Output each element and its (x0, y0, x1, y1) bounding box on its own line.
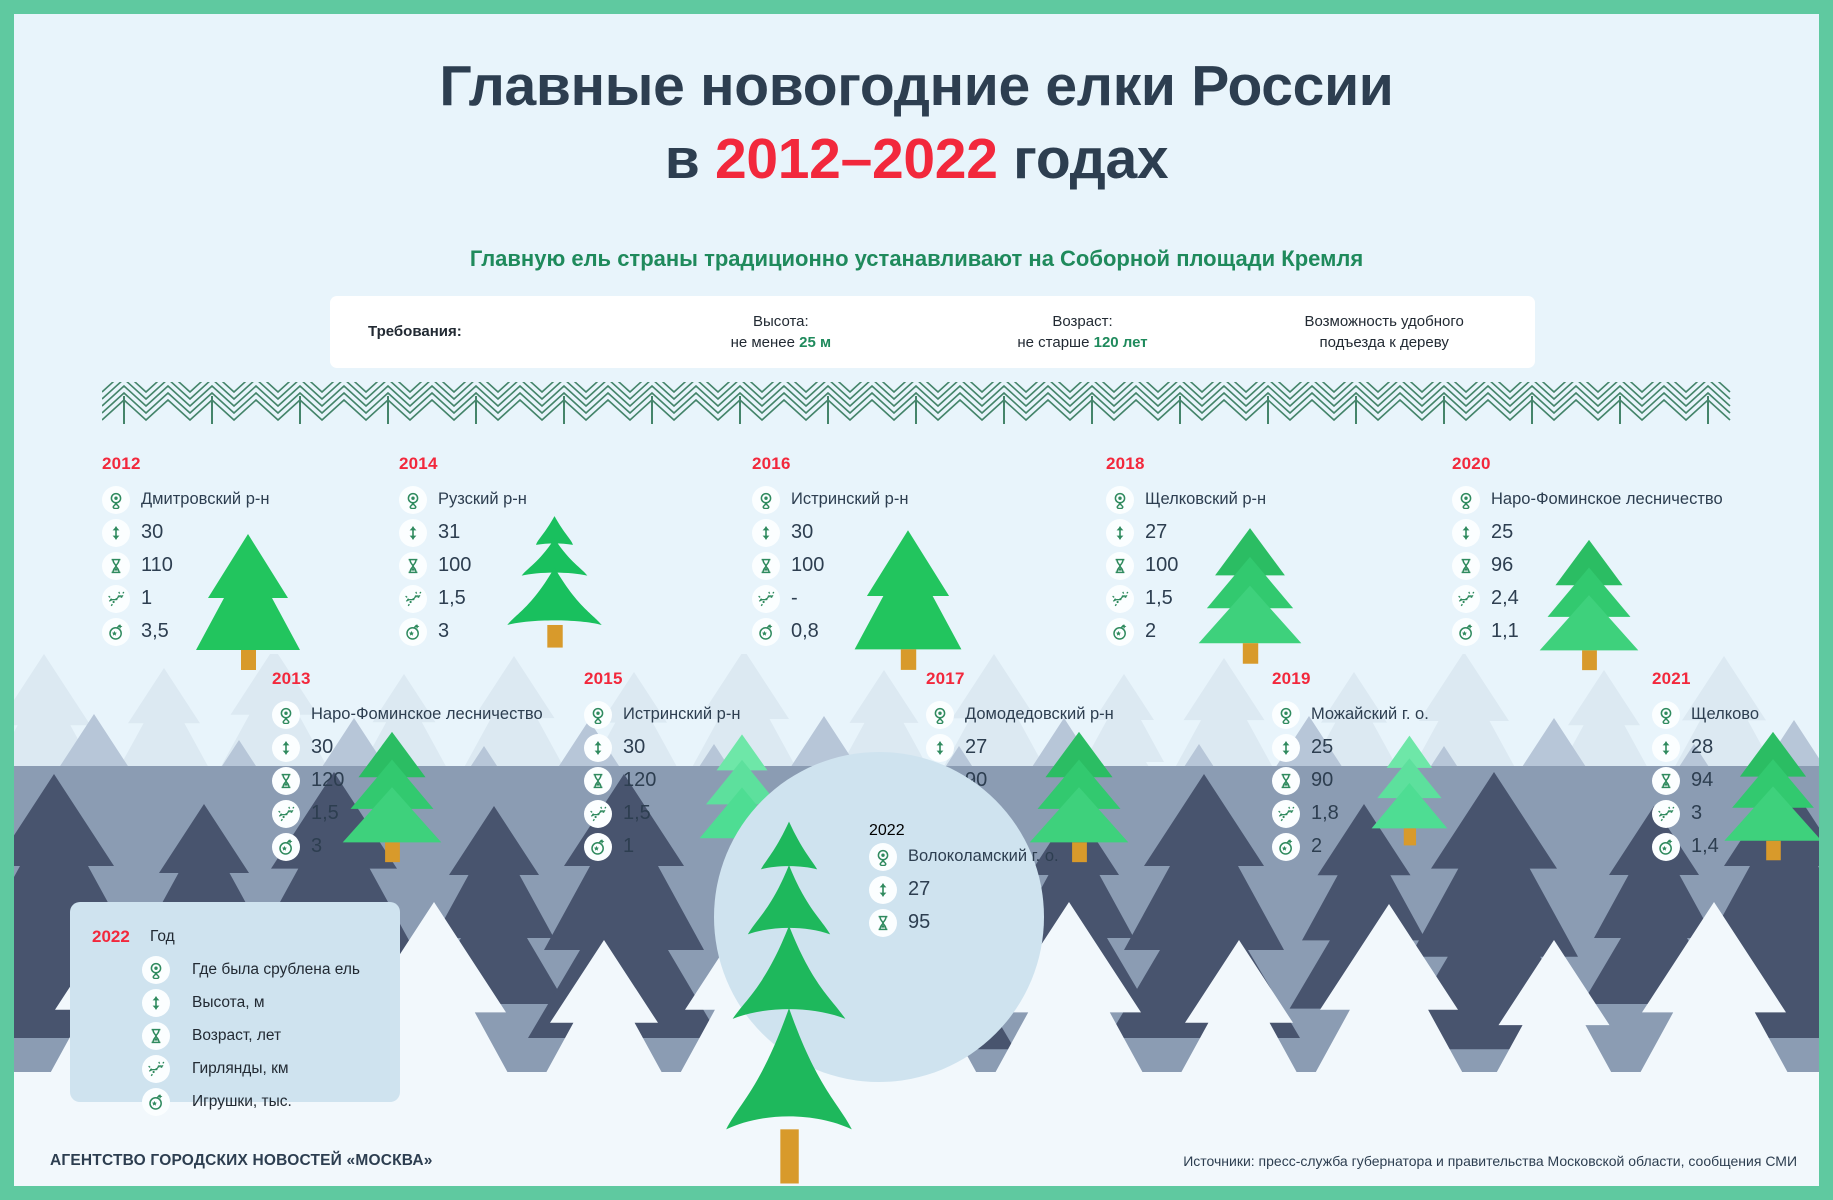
entry-toys: 2 (1311, 835, 1322, 858)
entry-year: 2019 (1272, 669, 1429, 689)
height-arrow-icon (102, 519, 130, 547)
title-year-range: 2012–2022 (715, 127, 998, 191)
entry-toys: 1 (623, 835, 634, 858)
entry-age: 90 (1311, 769, 1333, 792)
ornament-ball-icon (1272, 833, 1300, 861)
entry-height: 30 (141, 521, 163, 544)
title-suffix: годах (998, 127, 1169, 191)
title-prefix: в (665, 127, 715, 191)
hourglass-icon (1452, 552, 1480, 580)
height-arrow-icon (1106, 519, 1134, 547)
entry-place-row: Волоколамский г. о. (869, 840, 1059, 873)
entry-place: Рузский р-н (438, 490, 527, 509)
garland-icon (142, 1055, 170, 1083)
entry-height: 30 (623, 736, 645, 759)
legend-row-place: Где была срублена ель (92, 953, 380, 986)
hourglass-icon (142, 1022, 170, 1050)
entry-toys: 3 (438, 620, 449, 643)
ornament-ball-icon (102, 618, 130, 646)
entry-height: 25 (1491, 521, 1513, 544)
entry-garlands: 1,5 (438, 587, 466, 610)
entry-garlands: 1,5 (623, 802, 651, 825)
entry-garlands: 2,4 (1491, 587, 1519, 610)
hourglass-icon (584, 767, 612, 795)
zigzag-tree-divider (102, 382, 1732, 426)
legend-label-age: Возраст, лет (192, 1027, 281, 1045)
garland-icon (102, 585, 130, 613)
hourglass-icon (869, 909, 897, 937)
tree-illustration-2012 (188, 526, 308, 674)
infographic-frame: Главные новогодние елки России в 2012–20… (0, 0, 1833, 1200)
entry-age: 96 (1491, 554, 1513, 577)
legend-row-garlands: Гирлянды, км (92, 1052, 380, 1085)
tree-illustration-2013 (332, 726, 452, 872)
infographic-canvas: Главные новогодние елки России в 2012–20… (14, 14, 1819, 1186)
hourglass-icon (1272, 767, 1300, 795)
requirement-age-text: не старше (1017, 334, 1093, 351)
entry-age: 100 (1145, 554, 1178, 577)
tree-illustration-2020 (1528, 534, 1650, 680)
hourglass-icon (399, 552, 427, 580)
garland-icon (1272, 800, 1300, 828)
entry-place: Можайский г. о. (1311, 705, 1429, 724)
map-pin-icon (752, 486, 780, 514)
requirements-label: Требования: (330, 321, 630, 342)
entry-place: Щелковский р-н (1145, 490, 1266, 509)
legend-panel: 2022 Год Где была срублена ель Высота, м… (70, 902, 400, 1102)
requirement-height-name: Высота: (630, 311, 932, 332)
title-line-1: Главные новогодние елки России (14, 50, 1819, 123)
ornament-ball-icon (752, 618, 780, 646)
legend-label-place: Где была срублена ель (192, 961, 360, 979)
hourglass-icon (1652, 767, 1680, 795)
requirement-age-value: 120 лет (1094, 334, 1148, 351)
entry-year: 2016 (752, 454, 908, 474)
entry-place: Истринский р-н (791, 490, 908, 509)
ornament-ball-icon (272, 833, 300, 861)
entry-year: 2021 (1652, 669, 1759, 689)
garland-icon (752, 585, 780, 613)
entry-height: 27 (908, 878, 930, 901)
map-pin-icon (399, 486, 427, 514)
tree-entry-2022: 2022 Волоколамский г. о. 27 95 (869, 822, 1059, 939)
entry-height: 30 (311, 736, 333, 759)
map-pin-icon (584, 701, 612, 729)
entry-place: Домодедовский р-н (965, 705, 1114, 724)
entry-height-row: 27 (869, 873, 1059, 906)
entry-height: 27 (965, 736, 987, 759)
entry-year: 2022 (869, 822, 1059, 840)
garland-icon (1652, 800, 1680, 828)
hourglass-icon (1106, 552, 1134, 580)
height-arrow-icon (752, 519, 780, 547)
entry-place: Наро-Фоминское лесничество (311, 705, 543, 724)
tree-illustration-2022 (724, 804, 854, 1186)
height-arrow-icon (1652, 734, 1680, 762)
height-arrow-icon (584, 734, 612, 762)
ornament-ball-icon (584, 833, 612, 861)
requirement-height-text: не менее (731, 334, 800, 351)
entry-place-row: Наро-Фоминское лесничество (1452, 483, 1723, 516)
requirement-height-value: 25 м (799, 334, 831, 351)
requirement-age: Возраст: не старше 120 лет (932, 311, 1234, 354)
title-line-2: в 2012–2022 годах (14, 123, 1819, 196)
requirement-access-line1: Возможность удобного (1233, 311, 1535, 332)
entry-place-row: Можайский г. о. (1272, 698, 1429, 731)
entry-garlands: - (791, 587, 798, 610)
entry-year: 2018 (1106, 454, 1266, 474)
tree-illustration-2014 (492, 512, 617, 664)
requirement-access: Возможность удобного подъезда к дереву (1233, 311, 1535, 354)
entry-place-row: Истринский р-н (584, 698, 740, 731)
tree-illustration-2021 (1714, 726, 1819, 870)
requirement-age-name: Возраст: (932, 311, 1234, 332)
entry-place: Истринский р-н (623, 705, 740, 724)
entry-garlands: 1,5 (1145, 587, 1173, 610)
map-pin-icon (1106, 486, 1134, 514)
garland-icon (272, 800, 300, 828)
entry-height: 25 (1311, 736, 1333, 759)
entry-height: 28 (1691, 736, 1713, 759)
map-pin-icon (926, 701, 954, 729)
height-arrow-icon (272, 734, 300, 762)
entry-height: 27 (1145, 521, 1167, 544)
requirement-access-line2: подъезда к дереву (1233, 332, 1535, 353)
entry-place-row: Истринский р-н (752, 483, 908, 516)
garland-icon (1106, 585, 1134, 613)
entry-year: 2013 (272, 669, 543, 689)
entry-height: 30 (791, 521, 813, 544)
requirement-height: Высота: не менее 25 м (630, 311, 932, 354)
entry-place: Волоколамский г. о. (908, 847, 1059, 866)
entry-place: Дмитровский р-н (141, 490, 270, 509)
height-arrow-icon (399, 519, 427, 547)
legend-row-age: Возраст, лет (92, 1019, 380, 1052)
height-arrow-icon (926, 734, 954, 762)
entry-garlands: 1 (141, 587, 152, 610)
garland-icon (1452, 585, 1480, 613)
hourglass-icon (272, 767, 300, 795)
hourglass-icon (752, 552, 780, 580)
agency-credit: АГЕНТСТВО ГОРОДСКИХ НОВОСТЕЙ «МОСКВА» (50, 1152, 433, 1170)
entry-age: 110 (141, 554, 173, 577)
garland-icon (399, 585, 427, 613)
page-title: Главные новогодние елки России в 2012–20… (14, 50, 1819, 196)
ornament-ball-icon (399, 618, 427, 646)
entry-toys: 3,5 (141, 620, 169, 643)
tree-illustration-2018 (1186, 522, 1314, 674)
entry-year: 2015 (584, 669, 740, 689)
source-note: Источники: пресс-служба губернатора и пр… (1183, 1153, 1797, 1169)
subtitle: Главную ель страны традиционно устанавли… (14, 246, 1819, 272)
ornament-ball-icon (1652, 833, 1680, 861)
entry-toys: 2 (1145, 620, 1156, 643)
entry-toys: 3 (311, 835, 322, 858)
map-pin-icon (869, 843, 897, 871)
height-arrow-icon (869, 876, 897, 904)
map-pin-icon (142, 956, 170, 984)
map-pin-icon (1272, 701, 1300, 729)
entry-age: 100 (438, 554, 471, 577)
ornament-ball-icon (1106, 618, 1134, 646)
garland-icon (584, 800, 612, 828)
entry-toys: 1,1 (1491, 620, 1519, 643)
requirements-panel: Требования: Высота: не менее 25 м Возрас… (330, 296, 1535, 368)
map-pin-icon (1452, 486, 1480, 514)
height-arrow-icon (1452, 519, 1480, 547)
entry-age-row: 95 (869, 906, 1059, 939)
map-pin-icon (1652, 701, 1680, 729)
entry-place: Щелково (1691, 705, 1759, 724)
legend-label-garlands: Гирлянды, км (192, 1060, 289, 1078)
height-arrow-icon (142, 989, 170, 1017)
tree-illustration-2016 (844, 522, 972, 674)
entry-garlands: 3 (1691, 802, 1702, 825)
map-pin-icon (272, 701, 300, 729)
entry-age: 100 (791, 554, 824, 577)
legend-year-sample: 2022 (92, 927, 150, 947)
entry-garlands: 1,8 (1311, 802, 1339, 825)
ornament-ball-icon (1452, 618, 1480, 646)
tree-illustration-2019 (1359, 730, 1475, 870)
entry-place: Наро-Фоминское лесничество (1491, 490, 1723, 509)
entry-year: 2020 (1452, 454, 1723, 474)
hourglass-icon (102, 552, 130, 580)
entry-age: 120 (623, 769, 656, 792)
entry-toys: 0,8 (791, 620, 819, 643)
entry-height: 31 (438, 521, 460, 544)
legend-label-height: Высота, м (192, 994, 265, 1012)
entry-year: 2014 (399, 454, 527, 474)
height-arrow-icon (1272, 734, 1300, 762)
entry-place-row: Дмитровский р-н (102, 483, 270, 516)
legend-row-toys: Игрушки, тыс. (92, 1085, 380, 1118)
legend-row-height: Высота, м (92, 986, 380, 1019)
entry-age: 94 (1691, 769, 1713, 792)
entry-place-row: Щелковский р-н (1106, 483, 1266, 516)
entry-age: 95 (908, 911, 930, 934)
entry-year: 2017 (926, 669, 1114, 689)
legend-label-toys: Игрушки, тыс. (192, 1093, 292, 1111)
entry-year: 2012 (102, 454, 270, 474)
ornament-ball-icon (142, 1088, 170, 1116)
legend-row-year: 2022 Год (92, 920, 380, 953)
map-pin-icon (102, 486, 130, 514)
legend-year-label: Год (150, 928, 175, 946)
